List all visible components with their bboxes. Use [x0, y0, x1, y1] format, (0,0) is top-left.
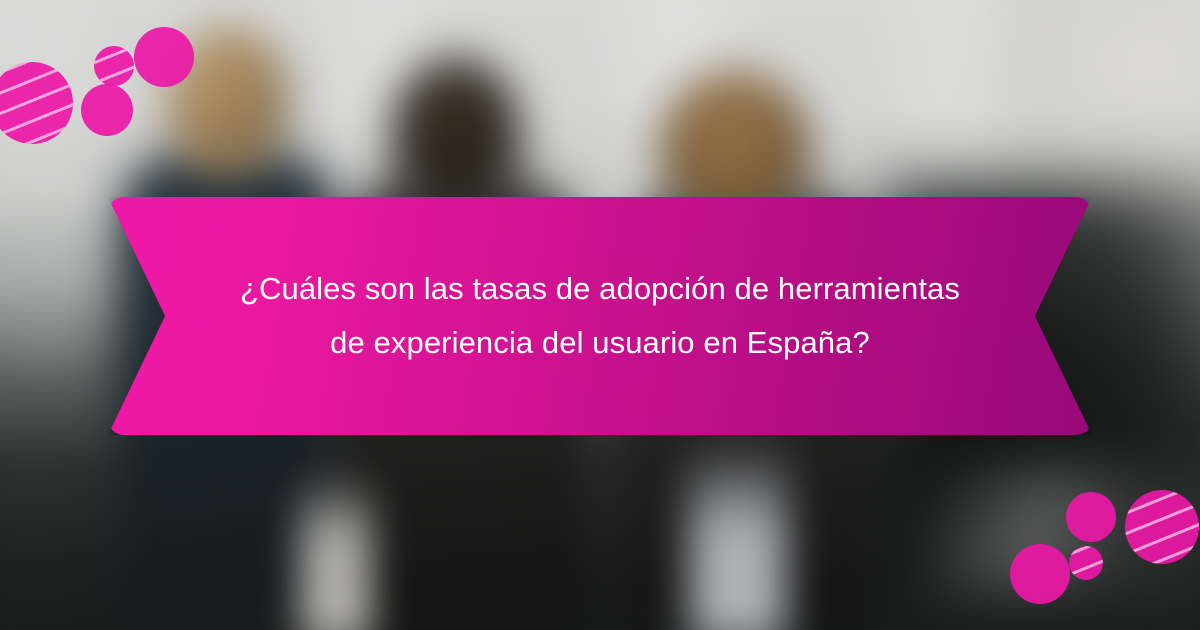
headline-line-2: de experiencia del usuario en España? — [200, 316, 1000, 370]
headline-line-1: ¿Cuáles son las tasas de adopción de her… — [200, 262, 1000, 316]
social-share-card: ¿Cuáles son las tasas de adopción de her… — [0, 0, 1200, 630]
headline-ribbon: ¿Cuáles son las tasas de adopción de her… — [108, 197, 1092, 435]
headline-text: ¿Cuáles son las tasas de adopción de her… — [200, 262, 1000, 370]
headline-ribbon-inner: ¿Cuáles son las tasas de adopción de her… — [200, 262, 1000, 370]
